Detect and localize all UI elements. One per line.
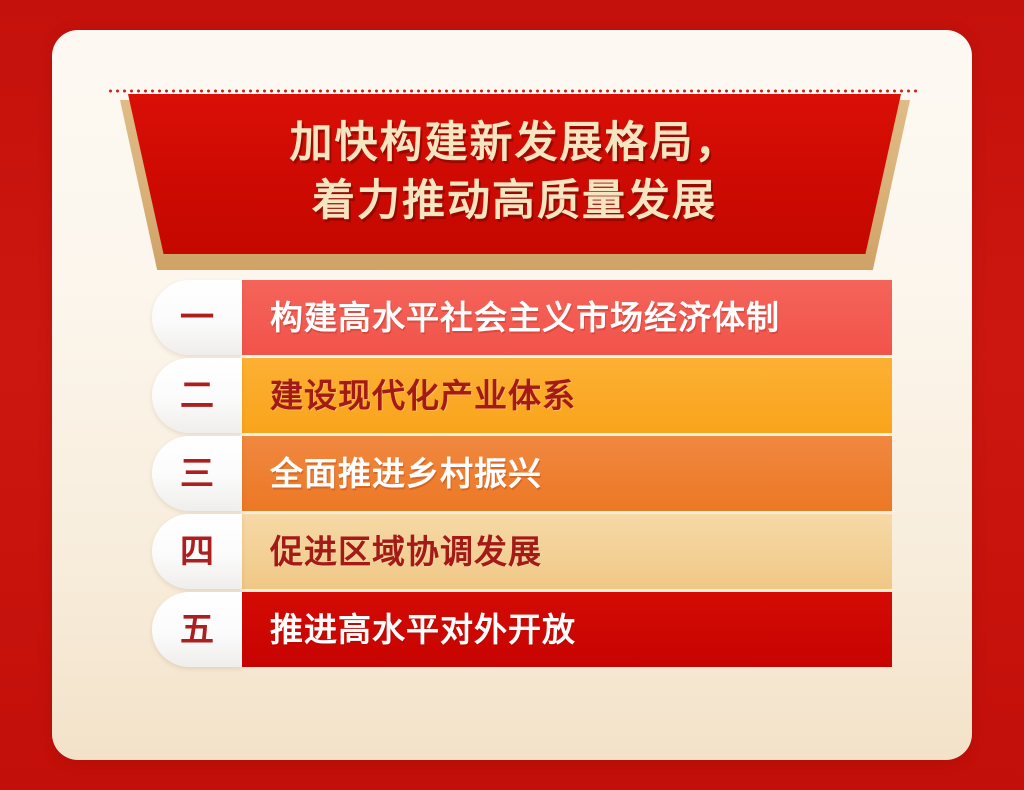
banner-red-plate: 加快构建新发展格局， 着力推动高质量发展 [128, 94, 901, 254]
list-item-bar: 推进高水平对外开放 [242, 592, 892, 667]
list-item-label: 构建高水平社会主义市场经济体制 [270, 301, 780, 334]
list-item-index-label: 五 [180, 613, 214, 647]
list-item[interactable]: 三全面推进乡村振兴 [152, 436, 892, 511]
banner-title-line-1: 加快构建新发展格局， [290, 114, 740, 172]
list-item[interactable]: 四促进区域协调发展 [152, 514, 892, 589]
list-item[interactable]: 一构建高水平社会主义市场经济体制 [152, 280, 892, 355]
poster-card: 加快构建新发展格局， 着力推动高质量发展 一构建高水平社会主义市场经济体制二建设… [52, 30, 972, 760]
list-item-index-badge: 一 [152, 280, 242, 355]
list-item-index-label: 一 [180, 301, 214, 335]
title-banner: 加快构建新发展格局， 着力推动高质量发展 [52, 94, 972, 284]
dotted-divider [107, 89, 917, 93]
list-item[interactable]: 二建设现代化产业体系 [152, 358, 892, 433]
list-item-index-badge: 三 [152, 436, 242, 511]
list-item-bar: 促进区域协调发展 [242, 514, 892, 589]
list-item-label: 全面推进乡村振兴 [270, 457, 542, 490]
list-item-bar: 建设现代化产业体系 [242, 358, 892, 433]
list-item-label: 推进高水平对外开放 [270, 613, 576, 646]
list-item-index-label: 四 [180, 535, 214, 569]
poster-stage: 加快构建新发展格局， 着力推动高质量发展 一构建高水平社会主义市场经济体制二建设… [0, 0, 1024, 790]
list-item[interactable]: 五推进高水平对外开放 [152, 592, 892, 667]
list-item-bar: 全面推进乡村振兴 [242, 436, 892, 511]
list-item-index-badge: 四 [152, 514, 242, 589]
list-item-index-badge: 二 [152, 358, 242, 433]
list-item-index-badge: 五 [152, 592, 242, 667]
banner-title-line-2: 着力推动高质量发展 [312, 172, 717, 230]
list-item-bar: 构建高水平社会主义市场经济体制 [242, 280, 892, 355]
list-item-index-label: 三 [180, 457, 214, 491]
list-item-index-label: 二 [180, 379, 214, 413]
list-item-label: 促进区域协调发展 [270, 535, 542, 568]
item-list: 一构建高水平社会主义市场经济体制二建设现代化产业体系三全面推进乡村振兴四促进区域… [152, 280, 892, 667]
list-item-label: 建设现代化产业体系 [270, 379, 576, 412]
